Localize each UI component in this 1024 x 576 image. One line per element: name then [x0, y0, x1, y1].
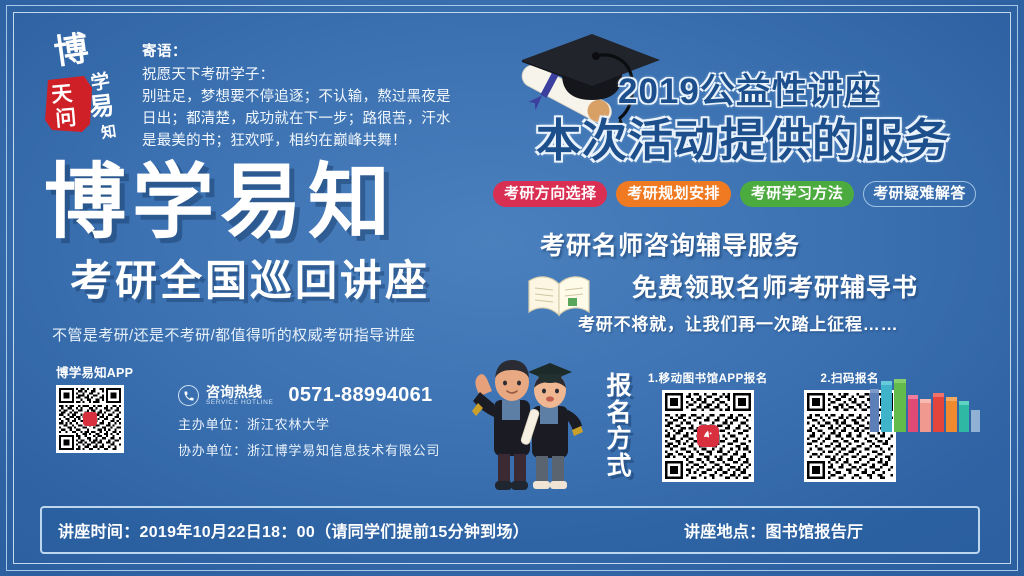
message-line-1: 别驻足，梦想要不停追逐；不认输，熬过黑夜是: [142, 86, 482, 108]
student-right: [520, 363, 583, 489]
host-organization: 主办单位：浙江农林大学: [178, 414, 508, 433]
main-title: 博学易知: [44, 162, 396, 244]
poster-root: 博 学 易 知 天 问 寄语： 祝愿天下考研学子： 别驻足，梦想要不停追逐；不认…: [0, 0, 1024, 576]
mobile-library-app-qr[interactable]: [662, 390, 754, 482]
registration-method-1: 1.移动图书馆APP报名: [648, 370, 768, 482]
service-line-2: 免费领取名师考研辅导书: [632, 268, 918, 304]
hotline-row: 咨询热线 SERVICE HOTLINE 0571-88994061: [178, 384, 508, 407]
student-left: [472, 360, 530, 490]
lecture-place: 讲座地点：图书馆报告厅: [684, 518, 863, 542]
svg-text:天: 天: [50, 80, 74, 107]
left-column: 博 学 易 知 天 问 寄语： 祝愿天下考研学子： 别驻足，梦想要不停追逐；不认…: [30, 22, 500, 482]
brand-logo: 博 学 易 知 天 问: [40, 28, 136, 148]
pill-direction-choice[interactable]: 考研方向选择: [493, 181, 607, 207]
right-column: 2019公益性讲座 本次活动提供的服务 考研方向选择 考研规划安排 考研学习方法…: [500, 18, 1008, 488]
students-illustration: [464, 348, 594, 498]
registration-vertical-label: 报名方式: [604, 373, 634, 479]
message-block: 寄语： 祝愿天下考研学子： 别驻足，梦想要不停追逐；不认输，熬过黑夜是 日出；都…: [142, 42, 482, 152]
qr-center-logo: [697, 425, 719, 447]
svg-text:问: 问: [54, 104, 77, 131]
app-qr-block: 博学易知APP: [56, 362, 156, 453]
message-line-2: 日出；都清楚，成功就在下一步；路很苦，汗水: [142, 108, 482, 130]
header-line-1: 2019公益性讲座: [618, 74, 880, 109]
header-line-2: 本次活动提供的服务: [536, 118, 950, 163]
hotline-label-cn: 咨询热线: [206, 385, 273, 400]
hotline-number[interactable]: 0571-88994061: [288, 384, 432, 407]
coorganizer: 协办单位：浙江博学易知信息技术有限公司: [178, 440, 508, 459]
message-title: 寄语：: [142, 42, 482, 64]
app-qr-label: 博学易知APP: [56, 362, 156, 381]
service-line-3: 考研不将就，让我们再一次踏上征程……: [578, 310, 898, 335]
phone-icon: [178, 385, 199, 406]
message-line-3: 是最美的书；狂欢呼，相约在巅峰共舞！: [142, 130, 482, 152]
pill-qa-support[interactable]: 考研疑难解答: [863, 181, 975, 207]
pill-study-method[interactable]: 考研学习方法: [740, 181, 854, 207]
hotline-label-en: SERVICE HOTLINE: [206, 399, 273, 406]
message-line-0: 祝愿天下考研学子：: [142, 64, 482, 86]
app-download-qr[interactable]: [56, 385, 124, 453]
hotline-text-group: 咨询热线 SERVICE HOTLINE: [206, 385, 273, 407]
service-line-1: 考研名师咨询辅导服务: [540, 226, 800, 262]
event-info-bar: 讲座时间：2019年10月22日18：00（请同学们提前15分钟到场） 讲座地点…: [40, 506, 980, 554]
pill-planning[interactable]: 考研规划安排: [616, 181, 730, 207]
qr-center-logo: [83, 412, 97, 426]
service-pill-group: 考研方向选择 考研规划安排 考研学习方法 考研疑难解答: [493, 181, 976, 207]
logo-char-yi: 易: [88, 91, 116, 122]
books-illustration: [868, 376, 994, 432]
contact-block: 咨询热线 SERVICE HOTLINE 0571-88994061 主办单位：…: [178, 384, 508, 459]
registration-qr-group: 1.移动图书馆APP报名: [648, 370, 896, 482]
logo-char-bo: 博: [52, 29, 91, 73]
logo-char-zhi: 知: [100, 122, 117, 142]
registration-caption-1: 1.移动图书馆APP报名: [648, 370, 768, 386]
tagline: 不管是考研/还是不考研/都值得听的权威考研指导讲座: [52, 324, 415, 345]
brand-seal: 天 问: [45, 76, 92, 132]
sub-title: 考研全国巡回讲座: [70, 260, 430, 302]
lecture-time: 讲座时间：2019年10月22日18：00（请同学们提前15分钟到场）: [58, 518, 529, 542]
